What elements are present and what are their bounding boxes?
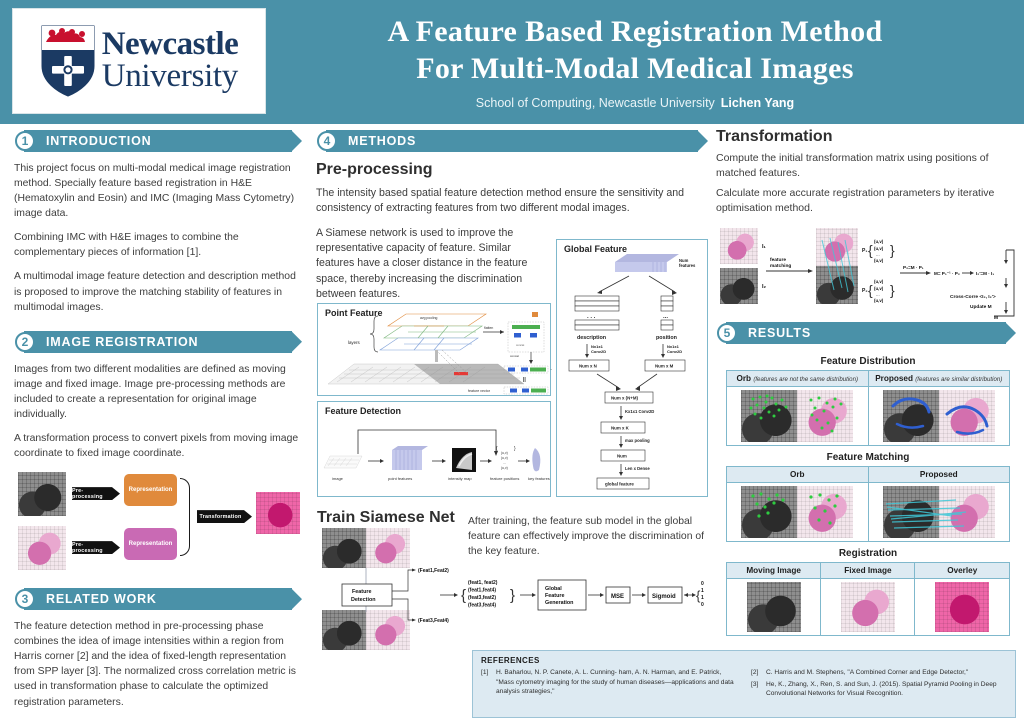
poster-title-line-1: A Feature Based Registration Method — [266, 14, 1004, 51]
svg-text:1: 1 — [701, 595, 704, 601]
feature-detection-diagram: image point features intensity map { (u,… — [318, 402, 552, 498]
registration-overlay-image — [935, 582, 989, 632]
arrow-preprocessing-bottom: Pre-processing — [72, 541, 120, 554]
svg-text:Cross-Corre <I₂, I₂'>: Cross-Corre <I₂, I₂'> — [950, 294, 996, 300]
table-header-row: Moving Image Fixed Image Overley — [727, 563, 1010, 579]
cell-fixed-image — [821, 579, 915, 636]
svg-text:(Feat3,Feat4): (Feat3,Feat4) — [418, 618, 449, 624]
university-logo: Newcastle University — [12, 8, 266, 114]
reference-number: [1] — [481, 668, 492, 697]
svg-text:features: features — [679, 263, 696, 268]
intro-paragraph-3: A multimodal image feature detection and… — [14, 269, 302, 314]
svg-text:I₂: I₂ — [762, 284, 767, 290]
col-header-orb: Orb — [727, 467, 869, 483]
svg-text:...: ... — [876, 252, 880, 257]
header-bold: Orb — [736, 374, 751, 383]
methods-paragraph-1: The intensity based spatial feature dete… — [316, 186, 708, 217]
match-he-green — [797, 486, 853, 538]
svg-text:Feature: Feature — [352, 589, 371, 595]
feature-distribution-table: Orb (features are not the same distribut… — [726, 370, 1010, 446]
table-row — [727, 579, 1010, 636]
svg-text:Conv2D: Conv2D — [591, 349, 606, 354]
svg-text:Conv2D: Conv2D — [667, 349, 682, 354]
col-header-overlay: Overley — [915, 563, 1010, 579]
svg-text:I₂'=M · I₁: I₂'=M · I₁ — [976, 271, 994, 276]
svg-text:global feature: global feature — [605, 482, 634, 487]
section-label: INTRODUCTION — [46, 134, 151, 148]
section-number: 5 — [717, 323, 737, 343]
svg-text:matching: matching — [770, 263, 791, 269]
svg-text:(feat1, feat2): (feat1, feat2) — [468, 580, 498, 586]
cell-overlay-image — [915, 579, 1010, 636]
section-banner-introduction: 1 INTRODUCTION — [14, 130, 302, 152]
svg-text:(Feat1,Feat2): (Feat1,Feat2) — [418, 568, 449, 574]
related-work-paragraph: The feature detection method in pre-proc… — [14, 619, 302, 709]
affiliation-text: School of Computing, Newcastle Universit… — [476, 96, 715, 110]
registration-paragraph-2: A transformation process to convert pixe… — [14, 431, 302, 461]
preprocessing-heading: Pre-processing — [316, 161, 708, 179]
svg-text:}: } — [510, 587, 515, 604]
col-header-orb: Orb (features are not the same distribut… — [727, 371, 869, 387]
svg-text:concat: concat — [516, 343, 524, 347]
svg-text:key features: key features — [528, 476, 550, 481]
header-italic: (features are not the same distribution) — [753, 376, 858, 383]
references-heading: REFERENCES — [481, 656, 1007, 665]
representation-box-top: Representation — [124, 474, 177, 506]
cell-orb-distribution — [727, 387, 869, 446]
result-imc-green-dots — [741, 390, 797, 442]
reference-item: [1] H. Baharlou, N. P. Canete, A. L. Cun… — [481, 668, 737, 697]
arrow-transformation: Transformation — [197, 510, 252, 523]
svg-text:M: M — [994, 315, 998, 320]
feature-matching-caption: Feature Matching — [726, 452, 1010, 463]
transformation-flow-svg: I₁ I₂ feature matching P₁ P₂ { (u,v) (u,… — [718, 228, 1018, 320]
transformation-paragraph-2: Calculate more accurate registration par… — [716, 186, 1016, 216]
image-pair — [730, 390, 865, 442]
svg-text:(feat1,feat4): (feat1,feat4) — [468, 588, 496, 594]
thumbnail-registered-overlay — [256, 492, 300, 534]
methods-paragraph-2: A Siamese network is used to improve the… — [316, 226, 548, 303]
registration-caption: Registration — [726, 548, 1010, 559]
svg-text:(u,v): (u,v) — [874, 239, 884, 244]
section-banner-image-registration: 2 IMAGE REGISTRATION — [14, 331, 302, 353]
reference-number: [3] — [751, 680, 762, 699]
svg-text:||: || — [523, 377, 526, 383]
svg-text:(u,v): (u,v) — [874, 279, 884, 284]
section-label: RELATED WORK — [46, 592, 157, 606]
col-header-proposed: Proposed (features are similar distribut… — [868, 371, 1010, 387]
svg-text:description: description — [577, 335, 606, 341]
results-tables: Feature Distribution Orb (features are n… — [726, 350, 1010, 636]
svg-text:{: { — [868, 282, 873, 298]
svg-text:(u,v): (u,v) — [874, 298, 884, 303]
result-he-blue-dots — [939, 390, 995, 442]
svg-text:Kx1x1 Conv2D: Kx1x1 Conv2D — [625, 409, 654, 414]
transformation-diagram: I₁ I₂ feature matching P₁ P₂ { (u,v) (u,… — [718, 228, 1018, 320]
svg-text:image: image — [332, 476, 344, 481]
poster-title-line-2: For Multi-Modal Medical Images — [266, 51, 1004, 88]
svg-text:Num x K: Num x K — [611, 426, 630, 431]
intro-paragraph-1: This project focus on multi-modal medica… — [14, 161, 302, 221]
svg-text:{: { — [868, 242, 873, 258]
banner-arrow-tip — [697, 130, 708, 152]
siamese-flow-svg: Feature Detection (Feat1,Feat2) (Feat3,F… — [322, 528, 708, 650]
section-number: 2 — [15, 332, 35, 352]
registration-moving-image — [747, 582, 801, 632]
cyan-match-lines — [872, 486, 984, 538]
global-feature-title: Global Feature — [564, 244, 627, 254]
svg-text:1: 1 — [701, 588, 704, 594]
svg-text:}: } — [890, 282, 895, 298]
svg-text:avg pooling: avg pooling — [420, 316, 437, 320]
svg-text:Detection: Detection — [351, 597, 376, 603]
logo-line-2: University — [102, 61, 239, 93]
match-imc-green — [741, 486, 797, 538]
point-feature-title: Point Feature — [325, 308, 383, 318]
cell-proposed-matching — [868, 483, 1010, 542]
svg-text:(u,v): (u,v) — [501, 466, 508, 470]
reference-text: H. Baharlou, N. P. Canete, A. L. Cunning… — [496, 668, 737, 697]
svg-text:Len x Dense: Len x Dense — [625, 466, 650, 471]
banner-arrow-tip — [291, 331, 302, 353]
svg-text:position: position — [656, 335, 677, 341]
banner-arrow-tip — [291, 130, 302, 152]
svg-text:P₁: P₁ — [862, 248, 867, 254]
logo-line-1: Newcastle — [102, 29, 239, 61]
svg-text:(u,v): (u,v) — [501, 451, 508, 455]
green-keypoints-overlay — [741, 486, 797, 538]
svg-text:concat: concat — [510, 354, 519, 358]
svg-text:(u,v): (u,v) — [874, 258, 884, 263]
col-header-proposed: Proposed — [868, 467, 1010, 483]
table-row — [727, 483, 1010, 542]
feature-matching-table: Orb Proposed — [726, 466, 1010, 542]
svg-text:M= P₁⁻¹ · P₂: M= P₁⁻¹ · P₂ — [934, 271, 960, 276]
cell-orb-matching — [727, 483, 869, 542]
left-column: 1 INTRODUCTION This project focus on mul… — [14, 130, 302, 719]
table-header-row: Orb Proposed — [727, 467, 1010, 483]
reference-text: C. Harris and M. Stephens, "A Combined C… — [766, 668, 968, 678]
svg-text:0: 0 — [701, 581, 704, 587]
svg-text:Num: Num — [617, 454, 627, 459]
table-row — [727, 387, 1010, 446]
result-imc-blue-dots — [883, 390, 939, 442]
reference-number: [2] — [751, 668, 762, 678]
point-feature-panel: Point Feature avg pooling layers — [317, 303, 551, 396]
svg-text:{: { — [461, 587, 466, 604]
poster-header: Newcastle University A Feature Based Reg… — [0, 0, 1024, 124]
svg-text:0: 0 — [701, 602, 704, 608]
intro-paragraph-2: Combining IMC with H&E images to combine… — [14, 230, 302, 260]
registration-flow-diagram: Pre-processing Pre-processing Representa… — [14, 470, 302, 578]
section-label: METHODS — [348, 134, 416, 148]
train-siamese-heading: Train Siamese Net — [317, 509, 455, 527]
svg-text:P₂: P₂ — [862, 288, 868, 294]
section-banner-related-work: 3 RELATED WORK — [14, 588, 302, 610]
svg-text:(u,v): (u,v) — [874, 246, 884, 251]
svg-text:Global: Global — [545, 586, 562, 592]
global-feature-diagram: Num features . . . description ... posit… — [557, 240, 709, 498]
section-number: 1 — [15, 131, 35, 151]
section-banner-results: 5 RESULTS — [716, 322, 1016, 344]
svg-text:}: } — [514, 446, 516, 452]
green-keypoints-overlay — [797, 486, 853, 538]
image-pair — [730, 486, 865, 538]
svg-text:feature vector: feature vector — [468, 389, 491, 393]
feature-distribution-caption: Feature Distribution — [726, 356, 1010, 367]
svg-text:－: － — [550, 367, 552, 372]
svg-text:I₁: I₁ — [762, 244, 767, 250]
header-italic: (features are similar distribution) — [915, 376, 1002, 383]
cell-moving-image — [727, 579, 821, 636]
affiliation-line: School of Computing, Newcastle Universit… — [266, 96, 1004, 110]
title-block: A Feature Based Registration Method For … — [266, 0, 1024, 110]
result-he-green-dots — [797, 390, 853, 442]
right-column: Transformation Compute the initial trans… — [716, 128, 1016, 221]
svg-text:(feat3,feat2): (feat3,feat2) — [468, 595, 496, 601]
image-pair — [872, 486, 1007, 538]
svg-text:max pooling: max pooling — [625, 438, 650, 443]
svg-text:intensity map: intensity map — [448, 476, 472, 481]
svg-text:P₂=M · P₁: P₂=M · P₁ — [903, 265, 924, 270]
feature-detection-title: Feature Detection — [325, 406, 401, 416]
svg-text:...: ... — [663, 314, 668, 320]
image-pair — [872, 390, 1007, 442]
global-feature-panel: Global Feature Num features . . . descri… — [556, 239, 708, 497]
transformation-heading: Transformation — [716, 128, 1016, 146]
blue-keypoints-overlay — [883, 390, 939, 442]
registration-table: Moving Image Fixed Image Overley — [726, 562, 1010, 636]
reference-text: He, K., Zhang, X., Ren, S. and Sun, J. (… — [766, 680, 1007, 699]
green-keypoints-overlay — [741, 390, 797, 442]
svg-text:feature: feature — [770, 257, 786, 263]
svg-text:Num x M: Num x M — [655, 364, 674, 369]
svg-text:MSE: MSE — [611, 594, 624, 600]
svg-text:Sigmoid: Sigmoid — [652, 594, 676, 600]
svg-text:Num x N: Num x N — [579, 364, 597, 369]
references-left-column: [1] H. Baharlou, N. P. Canete, A. L. Cun… — [481, 668, 737, 701]
svg-text:feature positions: feature positions — [490, 476, 519, 481]
references-panel: REFERENCES [1] H. Baharlou, N. P. Canete… — [472, 650, 1016, 718]
thumbnail-imc-moving — [18, 472, 66, 516]
newcastle-university-crest — [40, 24, 96, 98]
cell-proposed-distribution — [868, 387, 1010, 446]
reference-item: [2] C. Harris and M. Stephens, "A Combin… — [751, 668, 1007, 678]
svg-text:...: ... — [876, 292, 880, 297]
merge-brace — [180, 478, 190, 556]
svg-text:. . .: . . . — [587, 314, 596, 320]
col-header-fixed-image: Fixed Image — [821, 563, 915, 579]
train-siamese-diagram: Feature Detection (Feat1,Feat2) (Feat3,F… — [322, 528, 708, 650]
svg-text:flatten: flatten — [484, 326, 493, 330]
svg-text:layers: layers — [348, 340, 361, 345]
svg-text:(feat3,feat4): (feat3,feat4) — [468, 603, 496, 609]
arrow-preprocessing-top: Pre-processing — [72, 487, 120, 500]
thumbnail-he-fixed — [18, 526, 66, 570]
col-header-moving-image: Moving Image — [727, 563, 821, 579]
svg-text:(u,v): (u,v) — [874, 286, 884, 291]
section-label: RESULTS — [748, 326, 811, 340]
svg-text:Update M: Update M — [970, 304, 992, 310]
svg-text:}: } — [890, 242, 895, 258]
svg-text:Generation: Generation — [545, 600, 573, 606]
svg-text:(u,v): (u,v) — [501, 456, 508, 460]
author-name: Lichen Yang — [721, 96, 794, 110]
transformation-paragraph-1: Compute the initial transformation matri… — [716, 151, 1016, 181]
table-header-row: Orb (features are not the same distribut… — [727, 371, 1010, 387]
reference-item: [3] He, K., Zhang, X., Ren, S. and Sun, … — [751, 680, 1007, 699]
references-columns: [1] H. Baharlou, N. P. Canete, A. L. Cun… — [481, 668, 1007, 701]
svg-text:Feature: Feature — [545, 593, 564, 599]
svg-text:Num x (N+M): Num x (N+M) — [611, 396, 638, 401]
registration-fixed-image — [841, 582, 895, 632]
representation-box-bottom: Representation — [124, 528, 177, 560]
feature-detection-panel: Feature Detection image point features — [317, 401, 551, 497]
registration-paragraph-1: Images from two different modalities are… — [14, 362, 302, 422]
blue-keypoints-overlay — [939, 390, 995, 442]
svg-text:...: ... — [503, 461, 506, 465]
banner-arrow-tip — [291, 588, 302, 610]
section-label: IMAGE REGISTRATION — [46, 335, 198, 349]
green-keypoints-overlay — [797, 390, 853, 442]
banner-arrow-tip — [1005, 322, 1016, 344]
references-right-column: [2] C. Harris and M. Stephens, "A Combin… — [751, 668, 1007, 701]
section-banner-methods: 4 METHODS — [316, 130, 708, 152]
section-number: 4 — [317, 131, 337, 151]
svg-text:point features: point features — [388, 476, 412, 481]
header-bold: Proposed — [875, 374, 913, 383]
